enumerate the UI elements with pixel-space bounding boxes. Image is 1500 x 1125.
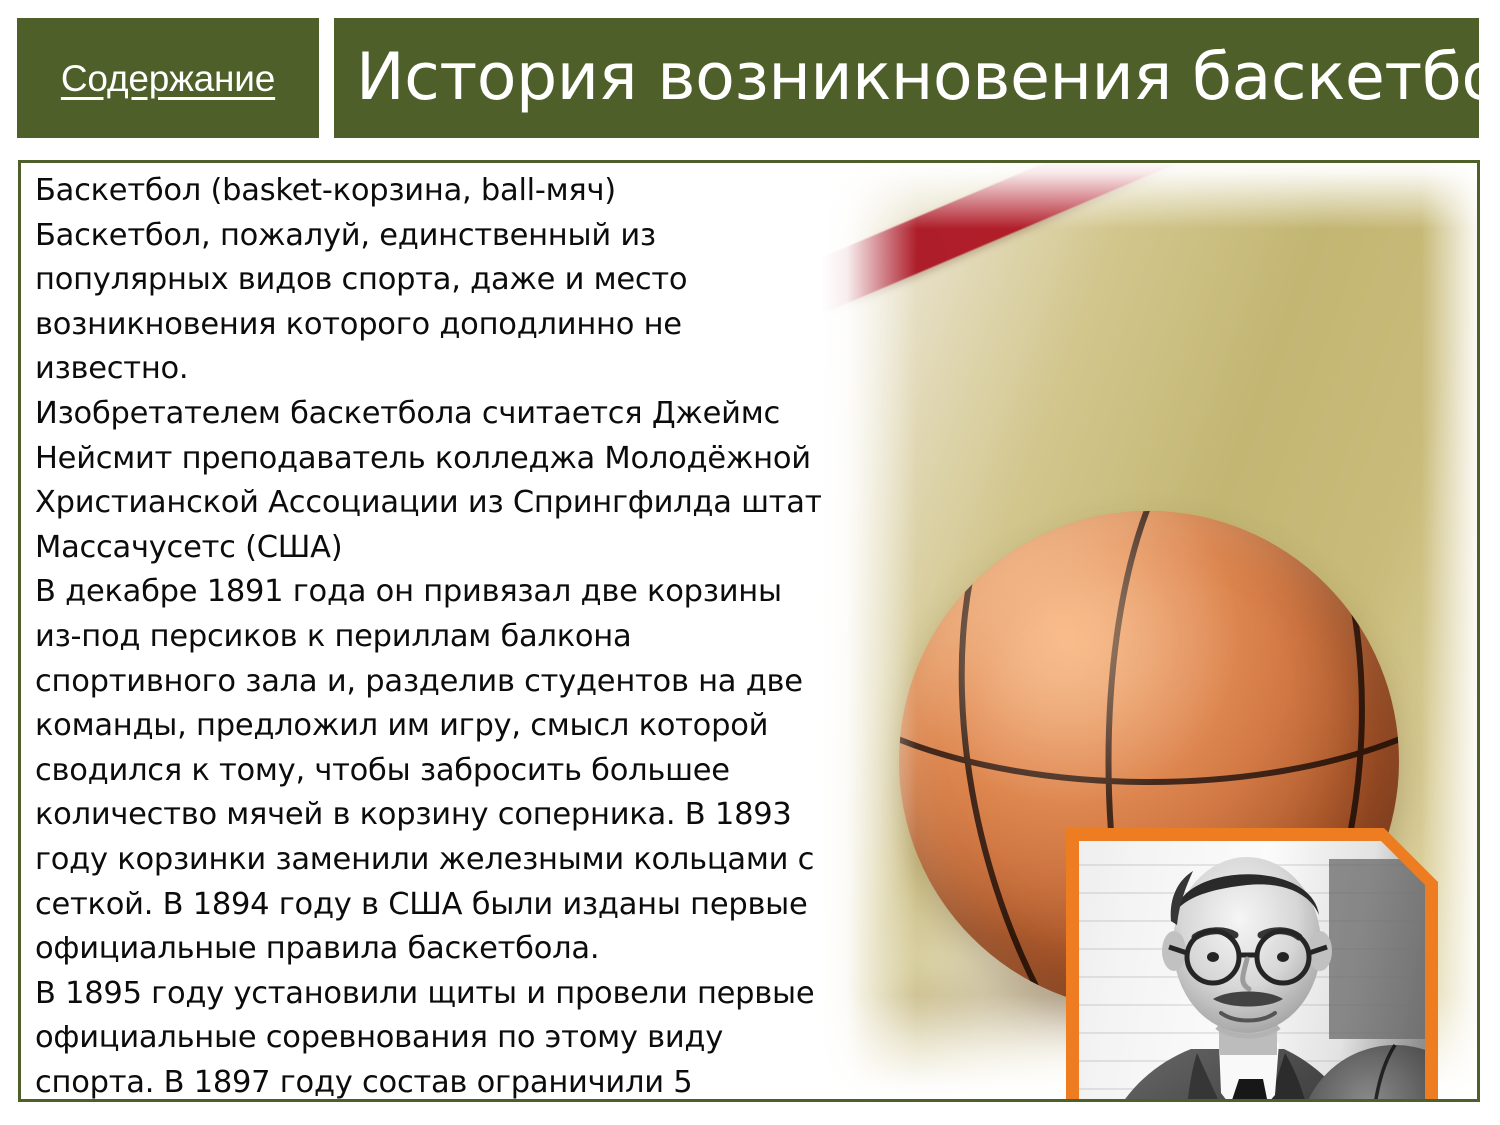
paragraph-history-1895: В 1895 году установили щиты и провели пе… <box>35 972 825 1102</box>
slide-bottom-margin <box>0 1110 1500 1125</box>
body-text-block: Баскетбол (basket-корзина, ball-мяч) Бас… <box>35 169 825 1102</box>
content-frame: Баскетбол (basket-корзина, ball-мяч) Бас… <box>18 160 1480 1102</box>
table-of-contents-link[interactable]: Содержание <box>61 60 275 97</box>
slide-header: Содержание История возникновения баскетб… <box>0 0 1500 146</box>
paragraph-inventor: Изобретателем баскетбола считается Джейм… <box>35 392 825 570</box>
page-title: История возникновения баскетбола <box>356 44 1479 112</box>
slide: Содержание История возникновения баскетб… <box>0 0 1500 1125</box>
paragraph-definition: Баскетбол (basket-корзина, ball-мяч) Бас… <box>35 169 825 392</box>
paragraph-history-1891: В декабре 1891 года он привязал две корз… <box>35 570 825 971</box>
naismith-portrait-frame <box>1066 828 1438 1102</box>
table-of-contents-button[interactable]: Содержание <box>17 18 319 138</box>
slide-title-bar: История возникновения баскетбола <box>334 18 1479 138</box>
naismith-portrait-photo <box>1079 841 1425 1102</box>
